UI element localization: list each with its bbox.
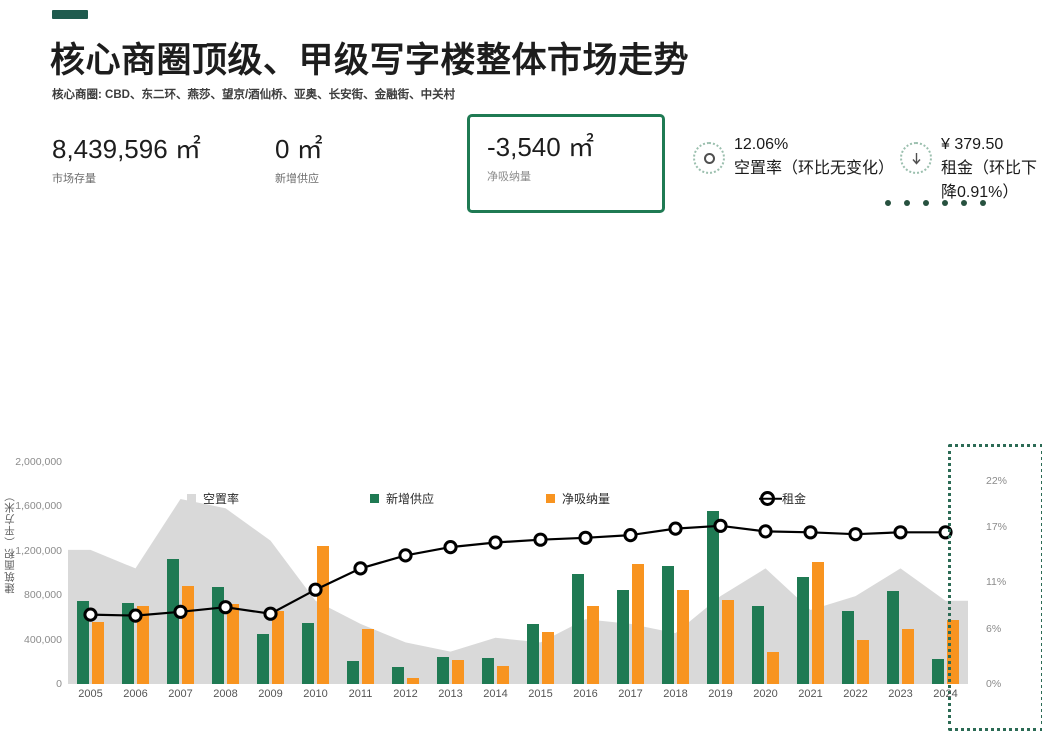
x-axis-label: 2006: [123, 688, 147, 700]
legend-label: 新增供应: [386, 490, 434, 507]
decorative-dot-strip: [885, 200, 986, 206]
dot: [942, 200, 948, 206]
kpi-new-supply-label: 新增供应: [275, 170, 323, 186]
x-axis-label: 2012: [393, 688, 417, 700]
kpi-new-supply-value: 0 ㎡: [275, 135, 323, 164]
x-axis-label: 2011: [349, 688, 373, 700]
dot: [904, 200, 910, 206]
x-axis-label: 2014: [483, 688, 507, 700]
kpi-market-stock-label: 市场存量: [52, 170, 201, 186]
legend-item-空置率[interactable]: 空置率: [187, 490, 239, 507]
market-trend-chart: 建筑面积（平方米） 0400,000800,0001,200,0001,600,…: [0, 222, 1042, 523]
y-axis-left-tick: 1,200,000: [0, 545, 62, 557]
kpi-market-stock-value: 8,439,596 ㎡: [52, 135, 201, 164]
x-axis-label: 2009: [258, 688, 282, 700]
circle-outline-icon: [693, 142, 725, 174]
legend-item-净吸纳量[interactable]: 净吸纳量: [546, 490, 610, 507]
legend-label: 净吸纳量: [562, 490, 610, 507]
rent-line-marker-icon: [760, 491, 775, 506]
kpi-vacancy-rate: 12.06% 空置率（环比无变化）: [693, 136, 894, 178]
kpi-vacancy-rate-label: 空置率（环比无变化）: [734, 154, 894, 178]
page-subtitle: 核心商圈: CBD、东二环、燕莎、望京/酒仙桥、亚奥、长安街、金融街、中关村: [52, 86, 455, 102]
legend-item-租金[interactable]: 租金: [760, 490, 806, 507]
y-axis-right-tick: 11%: [986, 576, 1032, 588]
kpi-rent-value: ¥ 379.50: [941, 136, 1042, 154]
kpi-market-stock: 8,439,596 ㎡ 市场存量: [52, 135, 201, 186]
x-axis-label: 2017: [618, 688, 642, 700]
y-axis-left-tick: 0: [0, 678, 62, 690]
y-axis-right-tick: 6%: [986, 623, 1032, 635]
brand-dash-mark: [52, 10, 88, 19]
legend-label: 空置率: [203, 490, 239, 507]
x-axis-label: 2008: [213, 688, 237, 700]
legend-swatch-icon: [370, 494, 379, 503]
kpi-rent: ¥ 379.50 租金（环比下降0.91%）: [900, 136, 1042, 202]
y-axis-right-tick: 22%: [986, 475, 1032, 487]
kpi-net-absorption: -3,540 ㎡ 净吸纳量: [487, 133, 594, 184]
kpi-vacancy-rate-value: 12.06%: [734, 136, 894, 154]
x-axis-label: 2018: [663, 688, 687, 700]
legend-swatch-icon: [187, 494, 196, 503]
y-axis-left-tick: 400,000: [0, 634, 62, 646]
y-axis-right-tick: 0%: [986, 678, 1032, 690]
kpi-new-supply: 0 ㎡ 新增供应: [275, 135, 323, 186]
kpi-net-absorption-label: 净吸纳量: [487, 168, 594, 184]
x-axis-label: 2015: [528, 688, 552, 700]
legend-item-新增供应[interactable]: 新增供应: [370, 490, 434, 507]
x-axis-label: 2024: [933, 688, 957, 700]
y-axis-left-tick: 800,000: [0, 589, 62, 601]
kpi-rent-label: 租金（环比下降0.91%）: [941, 154, 1042, 202]
kpi-net-absorption-value: -3,540 ㎡: [487, 133, 594, 162]
x-axis-label: 2022: [843, 688, 867, 700]
x-axis-label: 2016: [573, 688, 597, 700]
dot: [885, 200, 891, 206]
y-axis-left-tick: 2,000,000: [0, 456, 62, 468]
x-axis-label: 2005: [78, 688, 102, 700]
x-axis-label: 2007: [168, 688, 192, 700]
dot: [923, 200, 929, 206]
x-axis-label: 2020: [753, 688, 777, 700]
dot: [961, 200, 967, 206]
x-axis-label: 2023: [888, 688, 912, 700]
x-axis-label: 2021: [798, 688, 822, 700]
x-axis-label: 2013: [438, 688, 462, 700]
legend-label: 租金: [782, 490, 806, 507]
legend-swatch-icon: [546, 494, 555, 503]
page-title: 核心商圈顶级、甲级写字楼整体市场走势: [50, 32, 689, 83]
dot: [980, 200, 986, 206]
x-axis-label: 2019: [708, 688, 732, 700]
chart-legend: 空置率新增供应净吸纳量租金: [0, 490, 1042, 516]
arrow-down-icon: [900, 142, 932, 174]
x-axis-label: 2010: [303, 688, 327, 700]
